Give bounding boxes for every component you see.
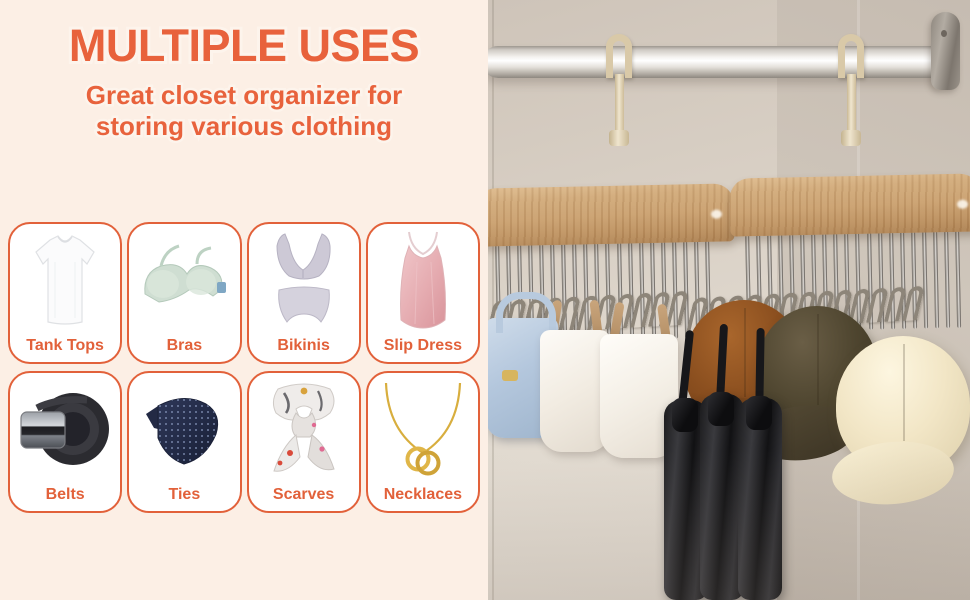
- use-case-card-necklaces: Necklaces: [366, 371, 480, 513]
- belt-icon: [10, 377, 120, 481]
- use-case-card-scarves: Scarves: [247, 371, 361, 513]
- umbrella-knob: [746, 396, 772, 430]
- headline-block: MULTIPLE USES Great closet organizer for…: [0, 0, 488, 143]
- use-case-card-bras[interactable]: Bras: [127, 222, 241, 364]
- card-label: Belts: [46, 486, 85, 511]
- left-info-panel: MULTIPLE USES Great closet organizer for…: [0, 0, 488, 600]
- closet-rod: [488, 46, 954, 78]
- product-photo-panel: [488, 0, 970, 600]
- hook-stem: [615, 74, 624, 134]
- card-label: Tank Tops: [26, 337, 104, 362]
- gold-hanger-hook-left: [606, 34, 632, 154]
- slip-dress-icon: [368, 228, 478, 332]
- scarf-icon: [249, 377, 359, 481]
- page-title: MULTIPLE USES: [0, 22, 488, 71]
- hook-foot: [841, 130, 861, 146]
- use-case-card-slip-dress: Slip Dress: [366, 222, 480, 364]
- umbrella-handle: [755, 328, 764, 406]
- card-label: Bras: [167, 337, 203, 362]
- card-label: Scarves: [273, 486, 334, 511]
- umbrella-knob: [672, 398, 698, 432]
- cap-seam: [744, 308, 746, 398]
- gold-hanger-hook-right: [838, 34, 864, 154]
- use-case-card-ties: Ties: [127, 371, 241, 513]
- card-label: Slip Dress: [384, 337, 462, 362]
- use-case-card-bikinis: Bikinis: [247, 222, 361, 364]
- rod-wall-mount-bracket: [931, 12, 960, 90]
- cap-seam: [903, 344, 905, 441]
- hook-stem: [847, 74, 856, 134]
- hook-curl: [838, 34, 864, 78]
- subtitle-line-2: storing various clothing: [0, 111, 488, 143]
- wood-grain: [729, 173, 970, 236]
- tie-icon: [129, 377, 239, 481]
- wood-grain: [488, 183, 735, 246]
- subtitle-line-1: Great closet organizer for: [0, 80, 488, 112]
- card-label: Ties: [169, 486, 201, 511]
- umbrella-knob: [708, 392, 734, 426]
- wooden-hanger-bar-right: [729, 173, 970, 236]
- page-subtitle: Great closet organizer for storing vario…: [0, 80, 488, 143]
- card-label: Bikinis: [277, 337, 329, 362]
- necklace-icon: [368, 377, 478, 481]
- hook-foot: [609, 130, 629, 146]
- use-case-card-tank-tops[interactable]: Tank Tops: [8, 222, 122, 364]
- bikini-icon: [249, 228, 359, 332]
- floor-shadow: [488, 450, 970, 600]
- infographic-page: MULTIPLE USES Great closet organizer for…: [0, 0, 970, 600]
- bra-icon: [129, 228, 239, 332]
- tank-top-icon: [10, 228, 120, 332]
- use-case-grid: Tank Tops Bras: [8, 222, 480, 513]
- cap-seam: [817, 314, 819, 405]
- wooden-hanger-bar-left: [488, 183, 735, 246]
- use-case-card-belts: Belts: [8, 371, 122, 513]
- hook-curl: [606, 34, 632, 78]
- card-label: Necklaces: [384, 486, 462, 511]
